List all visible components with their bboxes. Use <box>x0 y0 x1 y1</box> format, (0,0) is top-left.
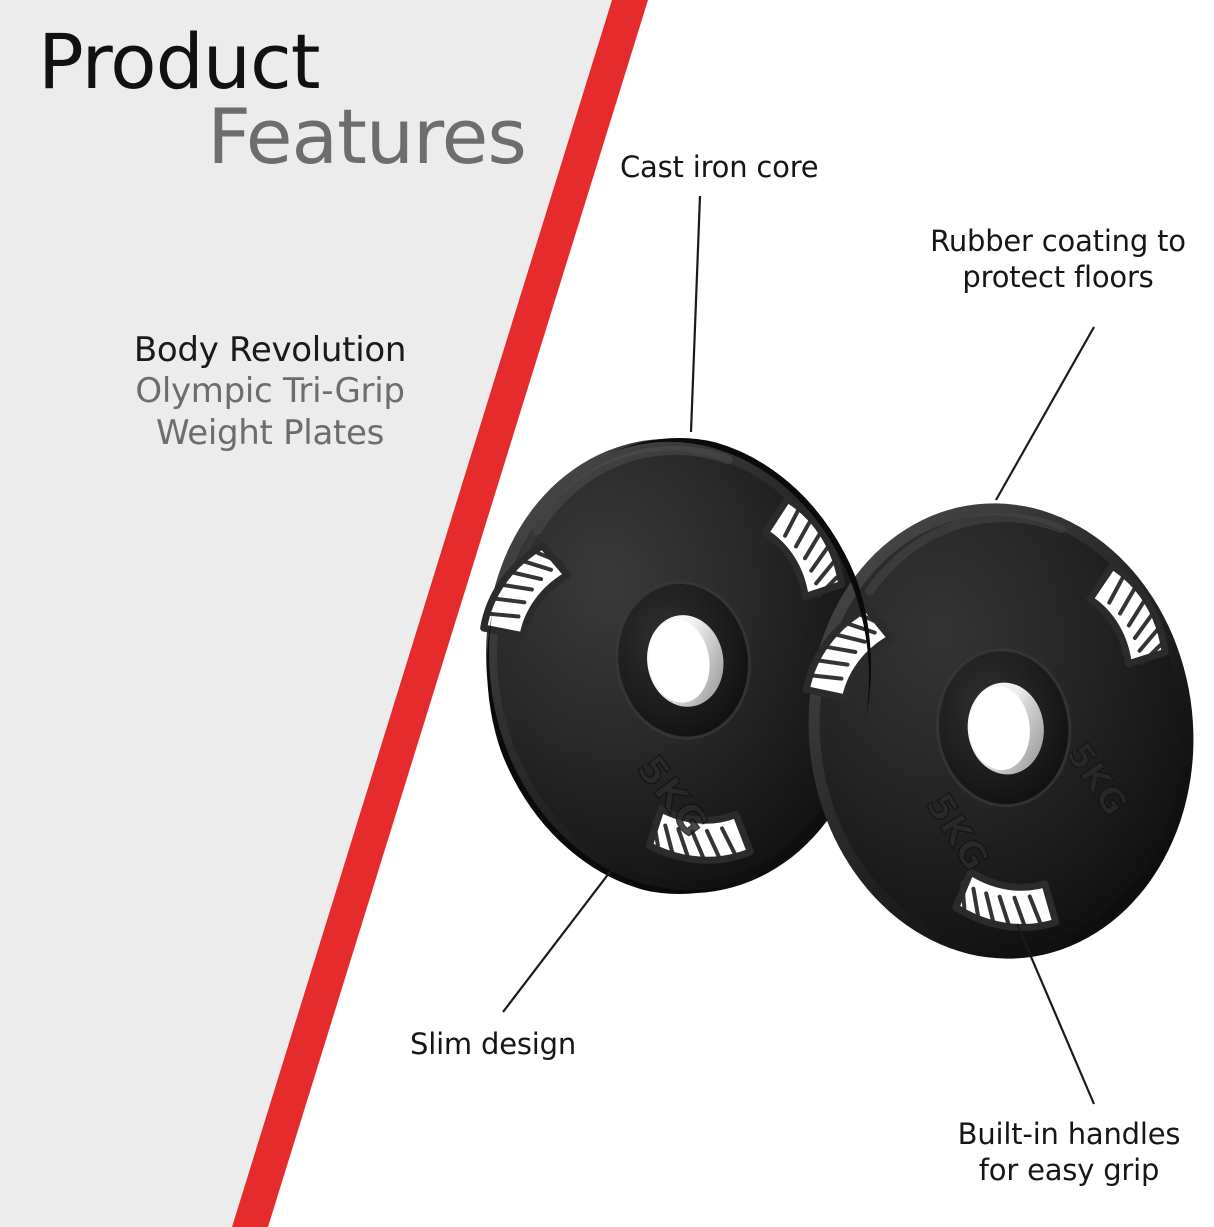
callout-rubber-coating: Rubber coating to protect floors <box>908 224 1208 296</box>
callout-leader-lines <box>0 0 1214 1227</box>
infographic-canvas: Product Features Body Revolution Olympic… <box>0 0 1214 1227</box>
leader-line-rubber-coating <box>996 327 1094 500</box>
leader-line-cast-iron-core <box>691 196 700 432</box>
leader-line-slim-design <box>503 864 616 1012</box>
callout-slim-design: Slim design <box>410 1027 576 1063</box>
callout-cast-iron-core: Cast iron core <box>620 150 818 186</box>
callout-built-in-handles: Built-in handles for easy grip <box>928 1117 1210 1189</box>
leader-line-built-in-handles <box>1017 924 1094 1104</box>
